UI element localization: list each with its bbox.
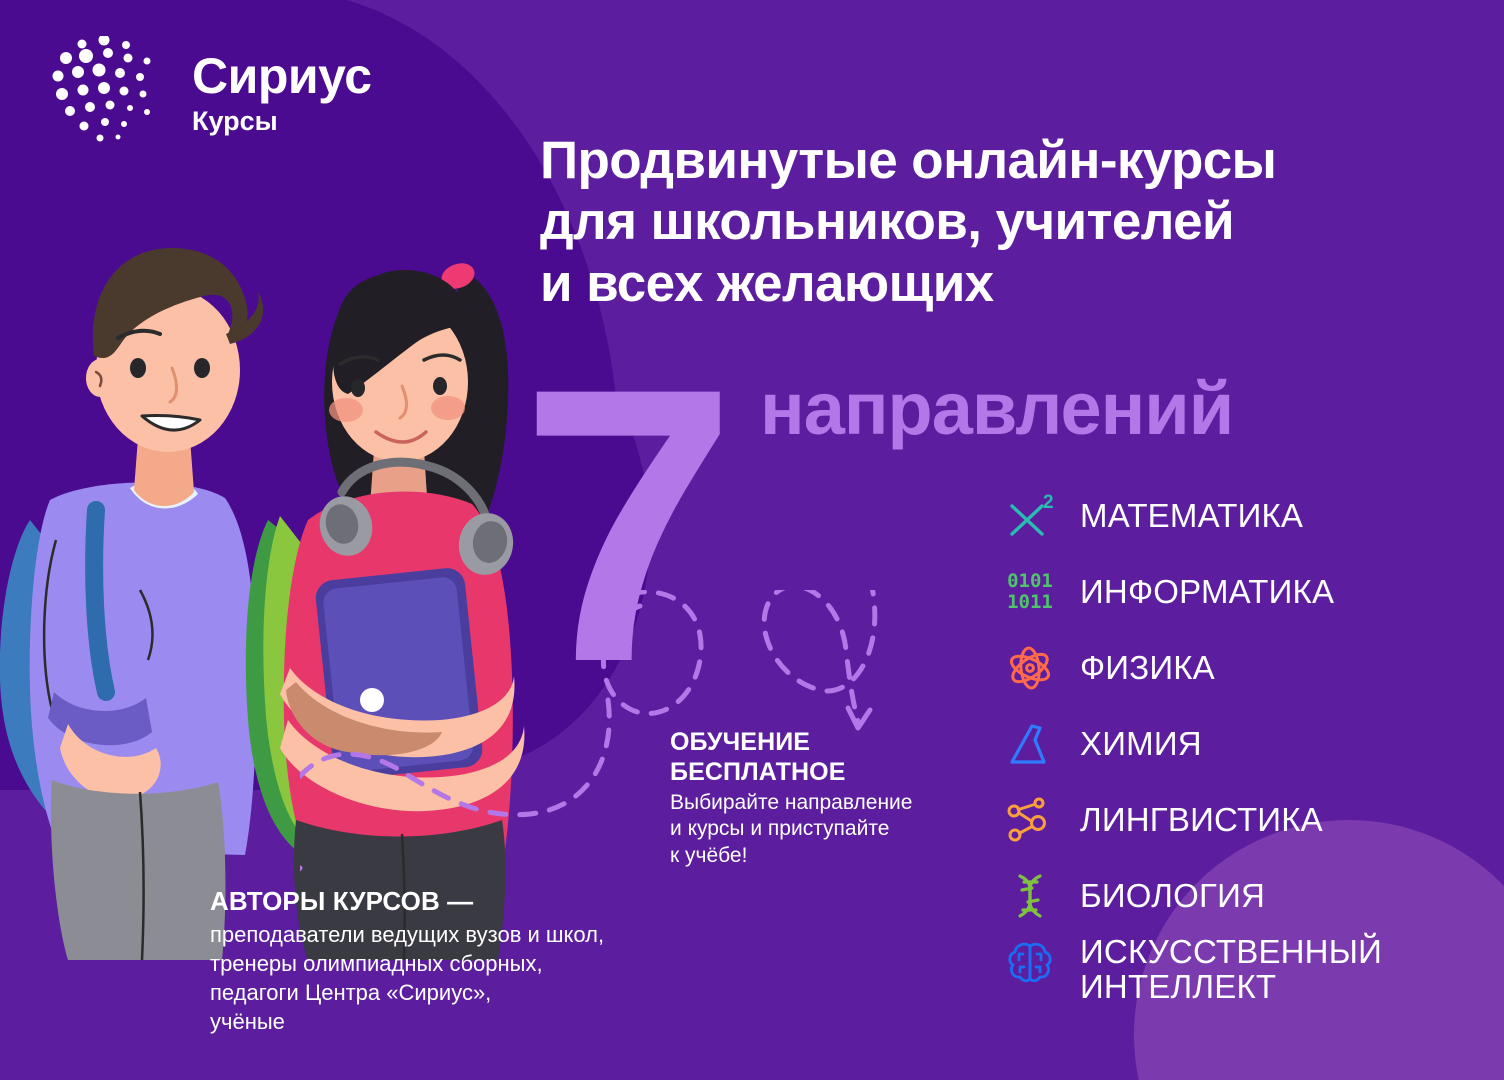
brain-icon bbox=[1002, 934, 1058, 990]
direction-label: ЛИНГВИСТИКА bbox=[1080, 802, 1323, 837]
sirius-dots-logo-icon bbox=[52, 36, 170, 144]
binary-bottom: 1011 bbox=[1007, 591, 1053, 613]
students-illustration bbox=[0, 120, 610, 960]
brand-logo[interactable]: Сириус Курсы bbox=[52, 36, 372, 144]
direction-label: ХИМИЯ bbox=[1080, 726, 1202, 761]
headline-line-1: Продвинутые онлайн-курсы bbox=[540, 130, 1440, 191]
direction-item-chemistry[interactable]: ХИМИЯ bbox=[1002, 706, 1382, 782]
svg-text:2: 2 bbox=[1043, 492, 1054, 513]
direction-label: ИНФОРМАТИКА bbox=[1080, 574, 1334, 609]
directions-count: 7 bbox=[520, 330, 727, 720]
binary-code-icon: 0101 1011 bbox=[1002, 564, 1058, 620]
direction-item-biology[interactable]: БИОЛОГИЯ bbox=[1002, 858, 1382, 934]
callout-course-authors: АВТОРЫ КУРСОВ — преподаватели ведущих ву… bbox=[210, 886, 604, 1036]
direction-label: МАТЕМАТИКА bbox=[1080, 498, 1303, 533]
poster-canvas: Сириус Курсы Продвинутые онлайн-курсы дл… bbox=[0, 0, 1504, 1080]
direction-label: БИОЛОГИЯ bbox=[1080, 878, 1265, 913]
callout-free-body: Выбирайте направление и курсы и приступа… bbox=[670, 790, 912, 869]
page-title: Продвинутые онлайн-курсы для школьников,… bbox=[540, 130, 1440, 314]
direction-item-informatics[interactable]: 0101 1011 ИНФОРМАТИКА bbox=[1002, 554, 1382, 630]
directions-list: 2 МАТЕМАТИКА 0101 1011 ИНФОРМАТИКА bbox=[1002, 478, 1382, 1018]
direction-item-mathematics[interactable]: 2 МАТЕМАТИКА bbox=[1002, 478, 1382, 554]
direction-label: ФИЗИКА bbox=[1080, 650, 1215, 685]
callout-free-title: ОБУЧЕНИЕ БЕСПЛАТНОЕ bbox=[670, 727, 912, 787]
brand-name: Сириус bbox=[192, 52, 372, 101]
headline-line-2: для школьников, учителей bbox=[540, 191, 1440, 252]
direction-item-linguistics[interactable]: ЛИНГВИСТИКА bbox=[1002, 782, 1382, 858]
callout-free-tuition: ОБУЧЕНИЕ БЕСПЛАТНОЕ Выбирайте направлени… bbox=[670, 727, 912, 869]
dna-helix-icon bbox=[1002, 868, 1058, 924]
callout-authors-body: преподаватели ведущих вузов и школ, трен… bbox=[210, 920, 604, 1036]
headline-line-3: и всех желающих bbox=[540, 253, 1440, 314]
direction-item-physics[interactable]: ФИЗИКА bbox=[1002, 630, 1382, 706]
directions-word: направлений bbox=[760, 372, 1233, 446]
brand-subtitle: Курсы bbox=[192, 105, 372, 139]
flask-icon bbox=[1002, 716, 1058, 772]
direction-label: ИСКУССТВЕННЫЙ ИНТЕЛЛЕКТ bbox=[1080, 934, 1382, 1005]
callout-authors-title: АВТОРЫ КУРСОВ — bbox=[210, 886, 604, 917]
direction-item-artificial-intelligence[interactable]: ИСКУССТВЕННЫЙ ИНТЕЛЛЕКТ bbox=[1002, 934, 1382, 1018]
x-squared-icon: 2 bbox=[1002, 488, 1058, 544]
brand-logo-text: Сириус Курсы bbox=[192, 36, 372, 139]
node-graph-icon bbox=[1002, 792, 1058, 848]
atom-icon bbox=[1002, 640, 1058, 696]
binary-top: 0101 bbox=[1007, 570, 1053, 592]
